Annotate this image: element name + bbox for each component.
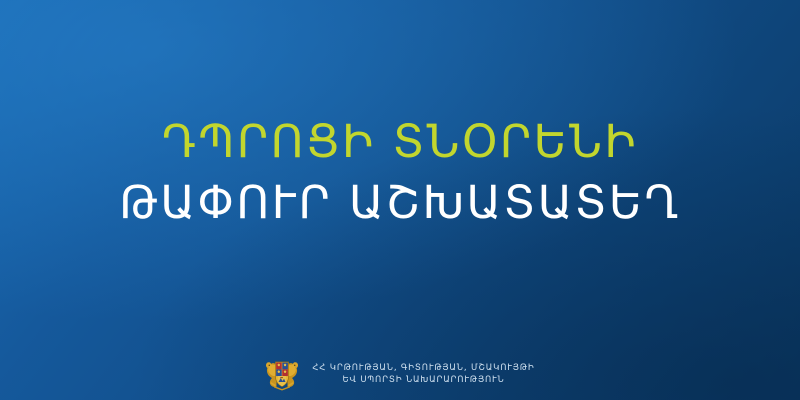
ministry-name-line-2: ԵՎ ՍՊՈՐՏԻ ՆԱԽԱՐԱՐՈՒԹՅՈՒՆ — [342, 374, 504, 386]
headline-line-primary: ԴՊՐՈՑԻ ՏՆՕՐԵՆԻ — [0, 118, 800, 167]
headline-block: ԴՊՐՈՑԻ ՏՆՕՐԵՆԻ ԹԱՓՈՒՐ ԱՇԽԱՏԱՏԵՂ — [0, 118, 800, 227]
armenia-coat-of-arms-icon — [265, 356, 299, 392]
ministry-name-block: ՀՀ ԿՐԹՈՒԹՅԱՆ, ԳԻՏՈՒԹՅԱՆ, ՄՇԱԿՈՒՅԹԻ ԵՎ ՍՊ… — [312, 362, 534, 387]
headline-line-secondary: ԹԱՓՈՒՐ ԱՇԽԱՏԱՏԵՂ — [0, 179, 800, 228]
ministry-name-line-1: ՀՀ ԿՐԹՈՒԹՅԱՆ, ԳԻՏՈՒԹՅԱՆ, ՄՇԱԿՈՒՅԹԻ — [312, 362, 534, 374]
footer-branding: ՀՀ ԿՐԹՈՒԹՅԱՆ, ԳԻՏՈՒԹՅԱՆ, ՄՇԱԿՈՒՅԹԻ ԵՎ ՍՊ… — [0, 356, 800, 392]
announcement-banner: ԴՊՐՈՑԻ ՏՆՕՐԵՆԻ ԹԱՓՈՒՐ ԱՇԽԱՏԱՏԵՂ — [0, 0, 800, 400]
